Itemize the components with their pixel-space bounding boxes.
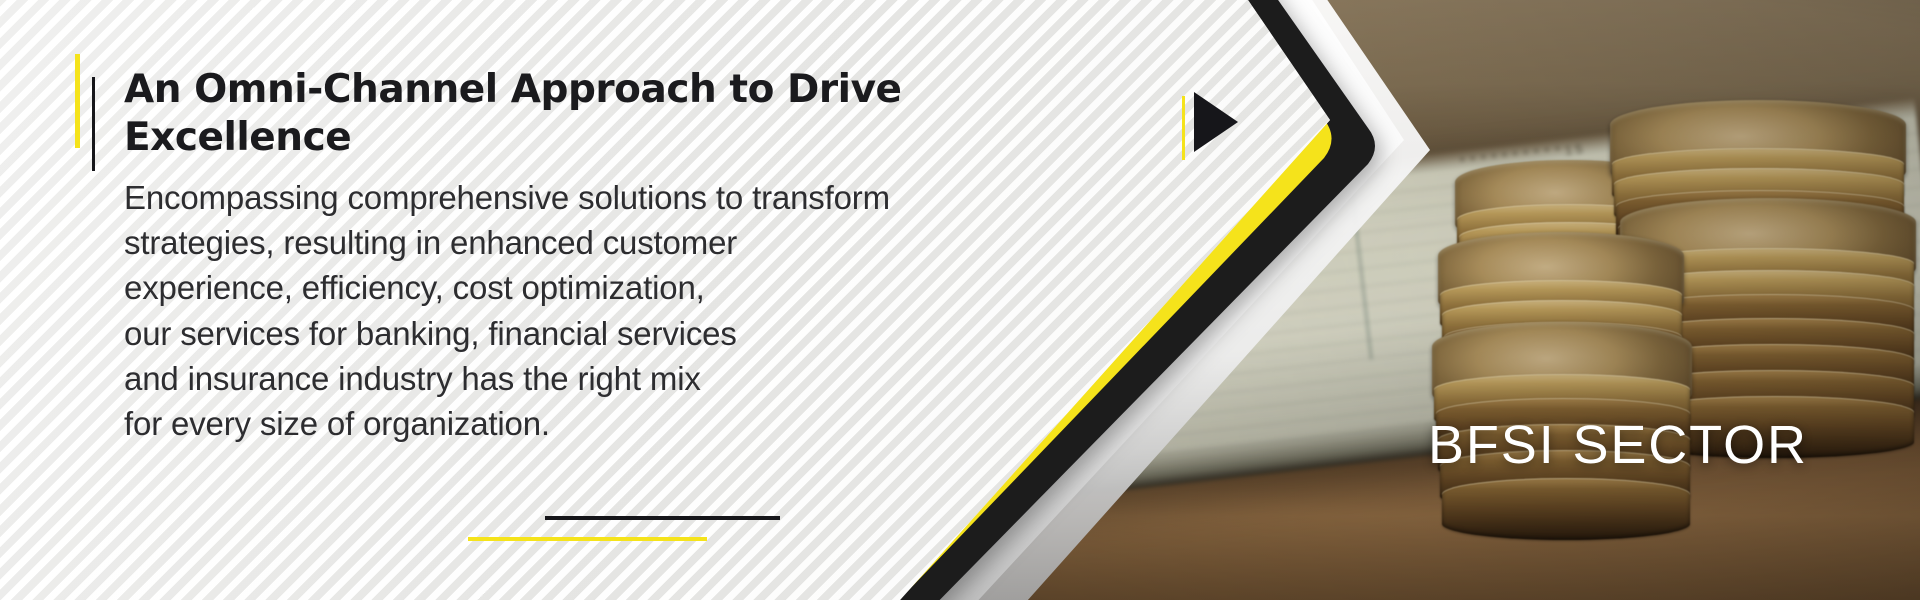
bfsi-sector-banner: +19,520.00 150,318.45 $19,368.69 142,048… <box>0 0 1920 600</box>
body-copy-line: for every size of organization. <box>124 401 1124 446</box>
divider-rule-black <box>545 516 780 520</box>
body-copy-line: our services for banking, financial serv… <box>124 311 1124 356</box>
page-title: An Omni-Channel Approach to Drive Excell… <box>124 66 944 161</box>
play-triangle-shape-icon <box>1194 92 1238 152</box>
divider-rule-yellow <box>468 537 707 541</box>
accent-bar-black-icon <box>92 77 95 171</box>
play-triangle-icon <box>1182 92 1254 164</box>
play-accent-bar-icon <box>1182 96 1185 160</box>
body-copy-line: strategies, resulting in enhanced custom… <box>124 220 1124 265</box>
accent-bar-yellow-icon <box>75 54 80 148</box>
body-copy-line: and insurance industry has the right mix <box>124 356 1124 401</box>
body-copy-line: Encompassing comprehensive solutions to … <box>124 175 1124 220</box>
body-copy: Encompassing comprehensive solutions to … <box>124 175 1124 446</box>
body-copy-line: experience, efficiency, cost optimizatio… <box>124 265 1124 310</box>
sector-label: BFSI SECTOR <box>1428 418 1808 472</box>
